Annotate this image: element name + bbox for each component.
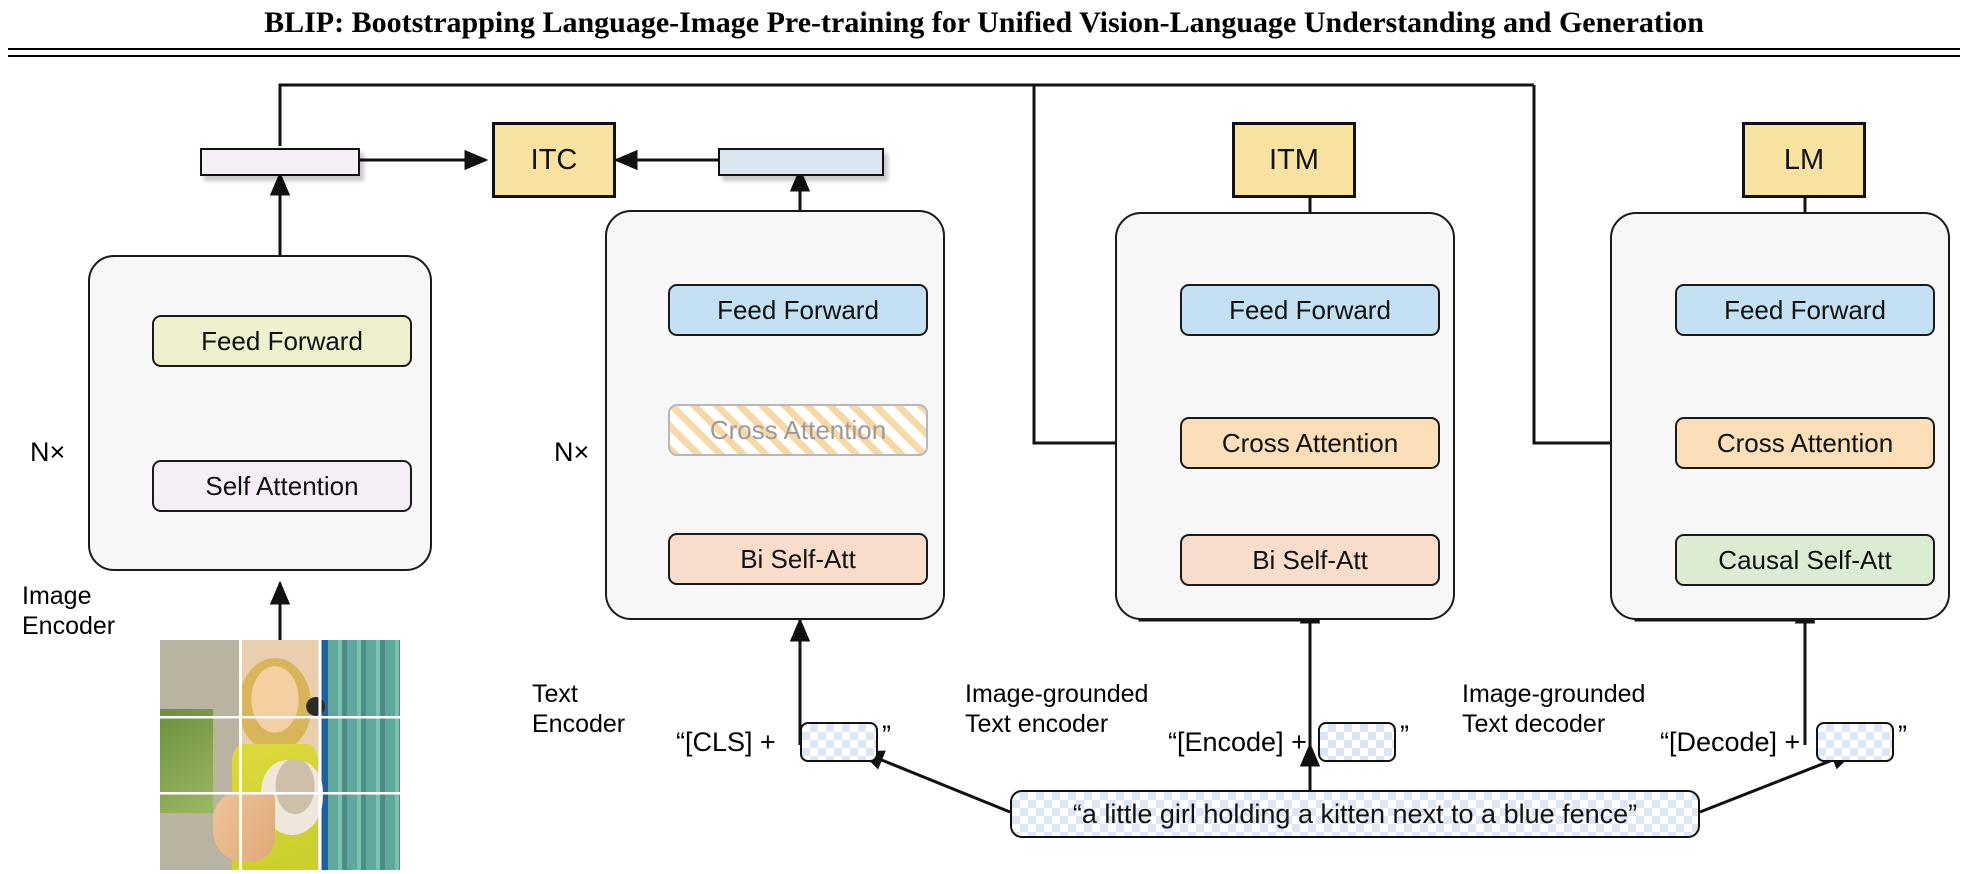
module-bi-self-att-text-encoder[interactable]: Bi Self-Att [668, 533, 928, 585]
text-encoder-token-suffix: ” [882, 720, 891, 751]
module-self-attention[interactable]: Self Attention [152, 460, 412, 512]
input-image-thumbnail [160, 640, 400, 870]
repeat-marker-text-encoder: N× [554, 437, 589, 468]
head-itc[interactable]: ITC [492, 122, 616, 198]
head-itm[interactable]: ITM [1232, 122, 1356, 198]
module-label: Self Attention [205, 471, 358, 502]
module-feed-forward-text-encoder[interactable]: Feed Forward [668, 284, 928, 336]
text-encoder-token-prefix: “[CLS] + [676, 727, 776, 758]
module-label: Feed Forward [1229, 295, 1391, 326]
grounded-encoder-token-prefix: “[Encode] + [1168, 727, 1307, 758]
image-encoder-caption: Image Encoder [22, 582, 115, 641]
grounded-encoder-token-placeholder [1318, 722, 1396, 762]
grounded-encoder-token-suffix: ” [1400, 720, 1409, 751]
decoder-token-placeholder [1816, 722, 1894, 762]
head-label: ITC [531, 144, 578, 177]
caption-text: “a little girl holding a kitten next to … [1073, 799, 1637, 830]
head-label: ITM [1269, 144, 1319, 177]
module-feed-forward-decoder[interactable]: Feed Forward [1675, 284, 1935, 336]
module-label: Feed Forward [717, 295, 879, 326]
module-label: Bi Self-Att [740, 544, 856, 575]
module-cross-attention-grounded-encoder[interactable]: Cross Attention [1180, 417, 1440, 469]
decoder-token-prefix: “[Decode] + [1660, 727, 1800, 758]
image-encoder-panel [88, 255, 432, 571]
module-label: Cross Attention [1717, 428, 1893, 459]
image-grounded-text-encoder-caption: Image-grounded Text encoder [965, 680, 1148, 739]
module-label: Causal Self-Att [1718, 545, 1891, 576]
head-label: LM [1784, 144, 1824, 177]
module-label: Feed Forward [201, 326, 363, 357]
visual-feature-strip [200, 148, 360, 176]
module-label: Cross Attention [710, 415, 886, 446]
text-encoder-token-placeholder [800, 722, 878, 762]
module-feed-forward-vision[interactable]: Feed Forward [152, 315, 412, 367]
module-causal-self-att-decoder[interactable]: Causal Self-Att [1675, 534, 1935, 586]
repeat-marker-image-encoder: N× [30, 437, 65, 468]
input-caption-bubble: “a little girl holding a kitten next to … [1010, 790, 1700, 838]
decoder-token-suffix: ” [1898, 720, 1907, 751]
text-feature-strip [718, 148, 884, 176]
image-grounded-text-decoder-caption: Image-grounded Text decoder [1462, 680, 1645, 739]
text-encoder-caption: Text Encoder [532, 680, 625, 739]
head-lm[interactable]: LM [1742, 122, 1866, 198]
module-cross-attention-disabled[interactable]: Cross Attention [668, 404, 928, 456]
module-label: Bi Self-Att [1252, 545, 1368, 576]
module-bi-self-att-grounded-encoder[interactable]: Bi Self-Att [1180, 534, 1440, 586]
residual-add-nodes [265, 267, 1820, 533]
module-cross-attention-decoder[interactable]: Cross Attention [1675, 417, 1935, 469]
module-feed-forward-grounded-encoder[interactable]: Feed Forward [1180, 284, 1440, 336]
module-label: Cross Attention [1222, 428, 1398, 459]
module-label: Feed Forward [1724, 295, 1886, 326]
